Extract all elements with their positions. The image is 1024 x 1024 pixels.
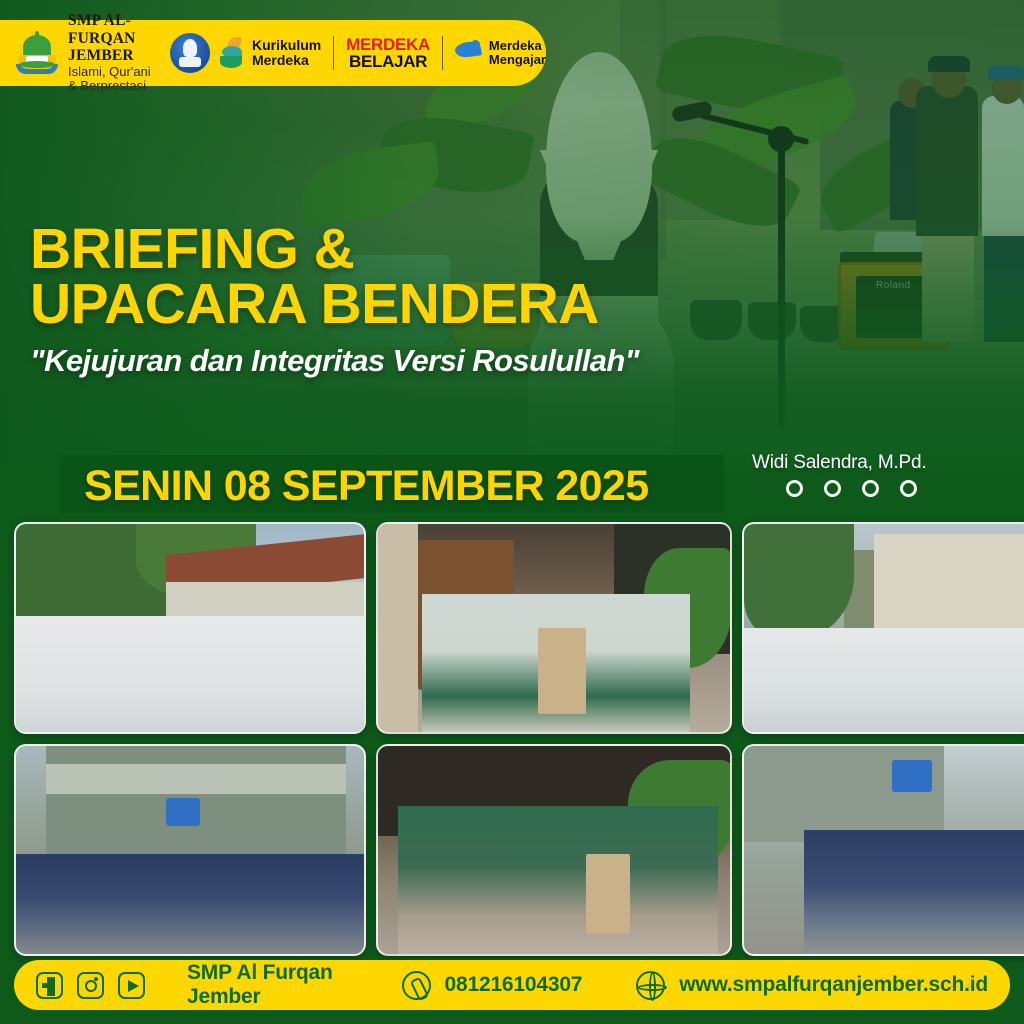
merdeka-mengajar-logo: Merdeka Mengajar bbox=[455, 39, 546, 67]
speaker-name: Widi Salendra, M.Pd. bbox=[752, 452, 926, 474]
event-date: SENIN 08 SEPTEMBER 2025 bbox=[84, 462, 649, 511]
tut-wuri-handayani-icon bbox=[170, 33, 210, 73]
instagram-icon[interactable] bbox=[77, 972, 104, 999]
dot-icon bbox=[900, 480, 917, 497]
merdeka-belajar-logo: MERDEKA BELAJAR bbox=[346, 36, 430, 70]
facebook-icon[interactable] bbox=[36, 972, 63, 999]
photo-students-assembly-right bbox=[742, 522, 1024, 734]
photo-teachers-group bbox=[376, 744, 732, 956]
merdeka-belajar-line-2: BELAJAR bbox=[346, 53, 430, 70]
merdeka-mengajar-mark-icon bbox=[455, 40, 483, 66]
title-line-1: BRIEFING & bbox=[30, 222, 639, 277]
mengajar-line-2: Mengajar bbox=[489, 53, 546, 67]
dot-icon bbox=[786, 480, 803, 497]
title-line-2: UPACARA BENDERA bbox=[30, 277, 639, 332]
school-name: SMP AL-FURQAN JEMBER bbox=[68, 12, 160, 64]
mengajar-line-1: Merdeka bbox=[489, 39, 546, 53]
photo-students-award-girls bbox=[376, 522, 732, 734]
dot-icon bbox=[824, 480, 841, 497]
poster: Roland SMP AL-FURQAN JEMBER Islami, Qur'… bbox=[0, 0, 1024, 1024]
school-identity: SMP AL-FURQAN JEMBER Islami, Qur'ani & B… bbox=[68, 12, 160, 93]
kurikulum-merdeka-label: Kurikulum Merdeka bbox=[252, 38, 321, 68]
merdeka-mengajar-label: Merdeka Mengajar bbox=[489, 39, 546, 67]
decorative-dots bbox=[786, 480, 917, 497]
dot-icon bbox=[862, 480, 879, 497]
divider bbox=[442, 36, 443, 70]
school-logo-icon bbox=[16, 31, 58, 75]
photo-students-saluting-left bbox=[14, 522, 366, 734]
subtitle: "Kejujuran dan Integritas Versi Rosulull… bbox=[30, 343, 639, 379]
website-url[interactable]: www.smpalfurqanjember.sch.id bbox=[679, 973, 988, 997]
school-tagline: Islami, Qur'ani & Berprestasi bbox=[68, 65, 160, 94]
phone-number[interactable]: 081216104307 bbox=[445, 973, 583, 997]
kurikulum-merdeka-logo: Kurikulum Merdeka bbox=[220, 37, 321, 69]
merdeka-belajar-line-1: MERDEKA bbox=[346, 36, 430, 53]
photo-students-saluting-boys bbox=[14, 744, 366, 956]
headline-block: BRIEFING & UPACARA BENDERA "Kejujuran da… bbox=[30, 222, 639, 379]
kurikulum-line-1: Kurikulum bbox=[252, 38, 321, 53]
phone-icon bbox=[402, 971, 431, 1000]
social-handle: SMP Al Furqan Jember bbox=[187, 961, 348, 1009]
divider bbox=[333, 36, 334, 70]
photo-students-line-right bbox=[742, 744, 1024, 956]
kurikulum-line-2: Merdeka bbox=[252, 53, 321, 68]
youtube-icon[interactable] bbox=[118, 972, 145, 999]
photo-grid bbox=[0, 522, 1024, 958]
globe-icon bbox=[636, 971, 665, 1000]
kurikulum-merdeka-mark-icon bbox=[220, 37, 246, 69]
footer-bar: SMP Al Furqan Jember 081216104307 www.sm… bbox=[14, 960, 1010, 1010]
header-banner: SMP AL-FURQAN JEMBER Islami, Qur'ani & B… bbox=[0, 20, 546, 86]
